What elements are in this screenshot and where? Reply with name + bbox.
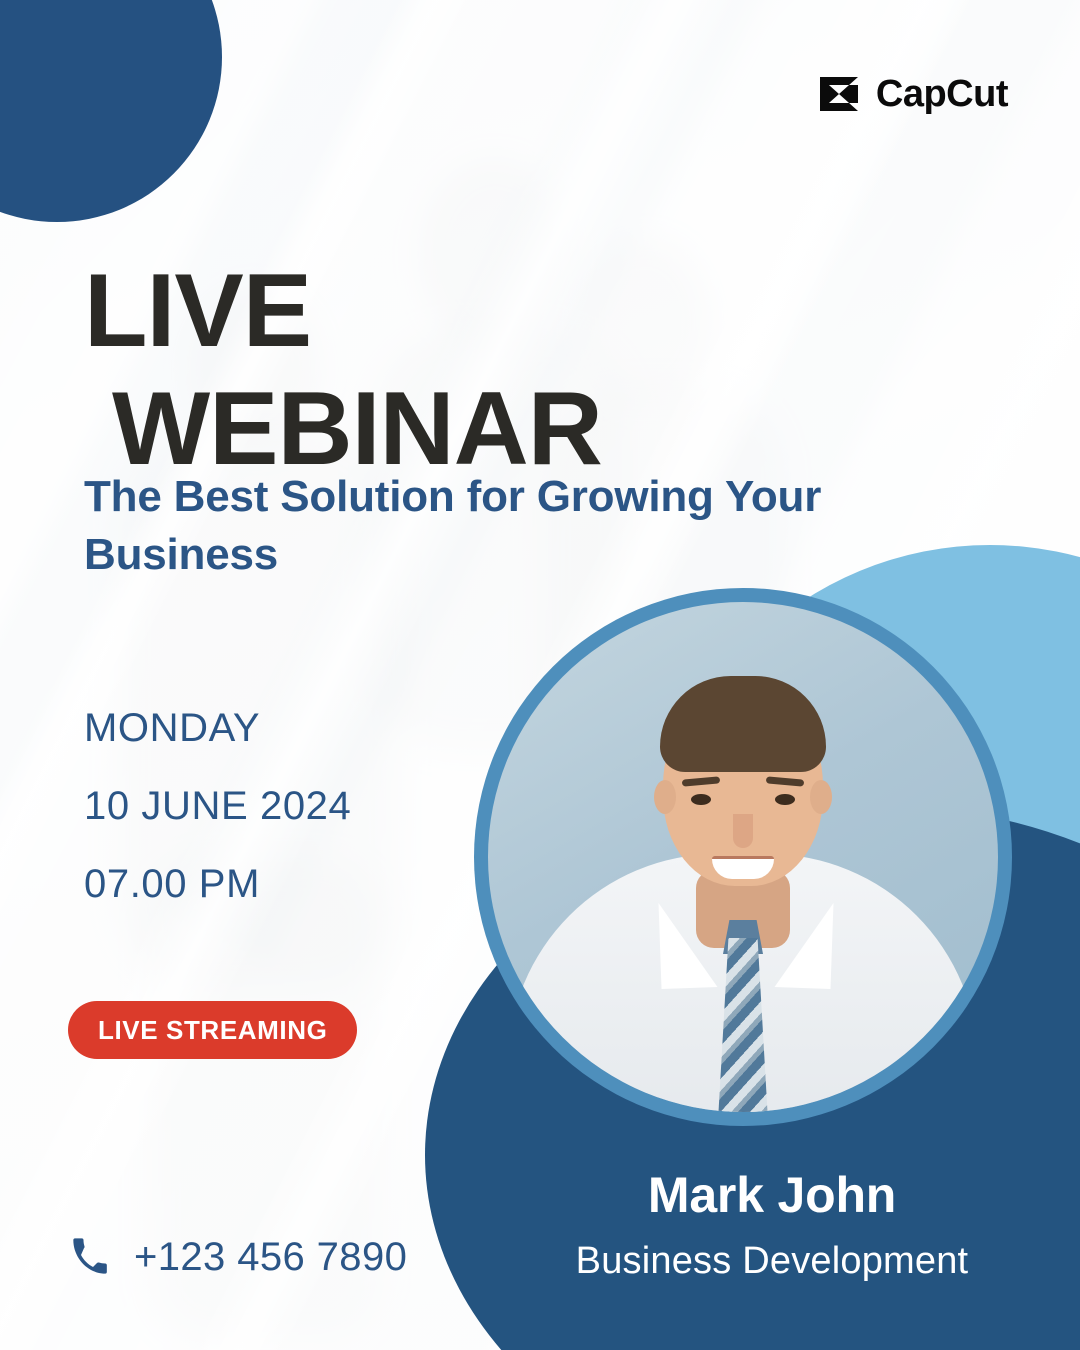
eye-left: [691, 794, 711, 805]
live-streaming-badge[interactable]: LIVE STREAMING: [68, 1001, 357, 1059]
hair: [660, 676, 826, 772]
schedule-day: MONDAY: [84, 708, 351, 748]
subtitle: The Best Solution for Growing Your Busin…: [84, 468, 844, 584]
phone-number: +123 456 7890: [134, 1237, 407, 1277]
schedule-block: MONDAY 10 JUNE 2024 07.00 PM: [84, 708, 351, 904]
capcut-logo-text: CapCut: [876, 75, 1008, 113]
contact-phone[interactable]: +123 456 7890: [70, 1237, 407, 1277]
webinar-poster: CapCut LIVE WEBINAR The Best Solution fo…: [0, 0, 1080, 1350]
speaker-name: Mark John: [492, 1168, 1052, 1223]
ear-right: [810, 780, 832, 814]
nose: [733, 814, 753, 848]
schedule-time: 07.00 PM: [84, 864, 351, 904]
speaker-info: Mark John Business Development: [492, 1168, 1052, 1283]
schedule-date: 10 JUNE 2024: [84, 786, 351, 826]
collar-right: [775, 901, 834, 989]
ear-left: [654, 780, 676, 814]
eye-right: [775, 794, 795, 805]
headline-line-1: LIVE: [84, 252, 724, 371]
speaker-photo: [488, 602, 998, 1112]
smile: [712, 856, 774, 879]
phone-icon: [70, 1237, 110, 1277]
page-title: LIVE WEBINAR: [84, 252, 724, 489]
collar-left: [659, 901, 718, 989]
capcut-bowtie-icon: [816, 74, 862, 114]
speaker-role: Business Development: [492, 1241, 1052, 1283]
capcut-logo[interactable]: CapCut: [816, 74, 1008, 114]
